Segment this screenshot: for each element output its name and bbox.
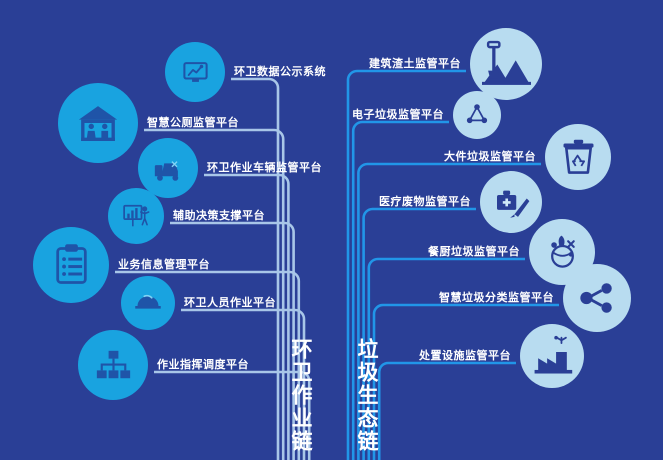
- node-label: 辅助决策支撑平台: [173, 210, 265, 221]
- node-hard-hat[interactable]: [121, 276, 175, 330]
- factory-icon: [531, 335, 574, 378]
- node-label: 大件垃圾监管平台: [444, 151, 536, 162]
- node-label: 智慧垃圾分类监管平台: [439, 292, 554, 303]
- food-waste-icon: [540, 230, 585, 275]
- node-garbage-truck[interactable]: [138, 138, 198, 198]
- connector-line: [374, 305, 559, 460]
- node-medical-waste[interactable]: [480, 171, 542, 233]
- node-label: 环卫数据公示系统: [234, 66, 326, 77]
- clipboard-icon: [46, 240, 97, 291]
- circuit-node-icon: [461, 99, 493, 131]
- infographic-canvas: 环卫数据公示系统智慧公厕监管平台环卫作业车辆监管平台辅助决策支撑平台业务信息管理…: [0, 0, 663, 460]
- node-label: 环卫作业车辆监管平台: [207, 162, 322, 173]
- node-recycle-bin[interactable]: [545, 124, 611, 190]
- connector-line: [154, 372, 309, 460]
- node-org-chart[interactable]: [78, 330, 148, 400]
- node-label: 电子垃圾监管平台: [352, 109, 444, 120]
- node-label: 医疗废物监管平台: [379, 196, 471, 207]
- node-label: 环卫人员作业平台: [184, 297, 276, 308]
- node-chart-monitor[interactable]: [165, 42, 225, 102]
- trunk-label-sanitation-operation-chain: 环卫作业链: [288, 338, 312, 453]
- hard-hat-icon: [130, 285, 166, 321]
- node-label: 智慧公厕监管平台: [147, 117, 239, 128]
- node-factory[interactable]: [520, 324, 584, 388]
- node-public-toilet[interactable]: [58, 83, 138, 163]
- share-nodes-icon: [574, 275, 620, 321]
- trunk-label-waste-ecology-chain: 垃圾生态链: [354, 338, 378, 453]
- node-label: 餐厨垃圾监管平台: [428, 246, 520, 257]
- public-toilet-icon: [71, 96, 125, 150]
- shovel-debris-icon: [482, 40, 531, 89]
- node-label: 处置设施监管平台: [419, 350, 511, 361]
- presentation-icon: [117, 197, 155, 235]
- chart-monitor-icon: [175, 52, 216, 93]
- node-circuit-node[interactable]: [453, 91, 501, 139]
- node-presentation[interactable]: [108, 188, 164, 244]
- node-share-nodes[interactable]: [563, 264, 631, 332]
- connector-line: [231, 79, 278, 460]
- node-label: 作业指挥调度平台: [157, 359, 249, 370]
- medical-waste-icon: [490, 181, 532, 223]
- node-clipboard[interactable]: [33, 227, 109, 303]
- node-label: 业务信息管理平台: [118, 259, 210, 270]
- node-label: 建筑渣土监管平台: [369, 58, 461, 69]
- connector-line: [379, 363, 516, 460]
- garbage-truck-icon: [148, 148, 189, 189]
- connector-line: [181, 310, 304, 460]
- node-shovel-debris[interactable]: [470, 28, 542, 100]
- recycle-bin-icon: [556, 135, 601, 180]
- org-chart-icon: [90, 342, 137, 389]
